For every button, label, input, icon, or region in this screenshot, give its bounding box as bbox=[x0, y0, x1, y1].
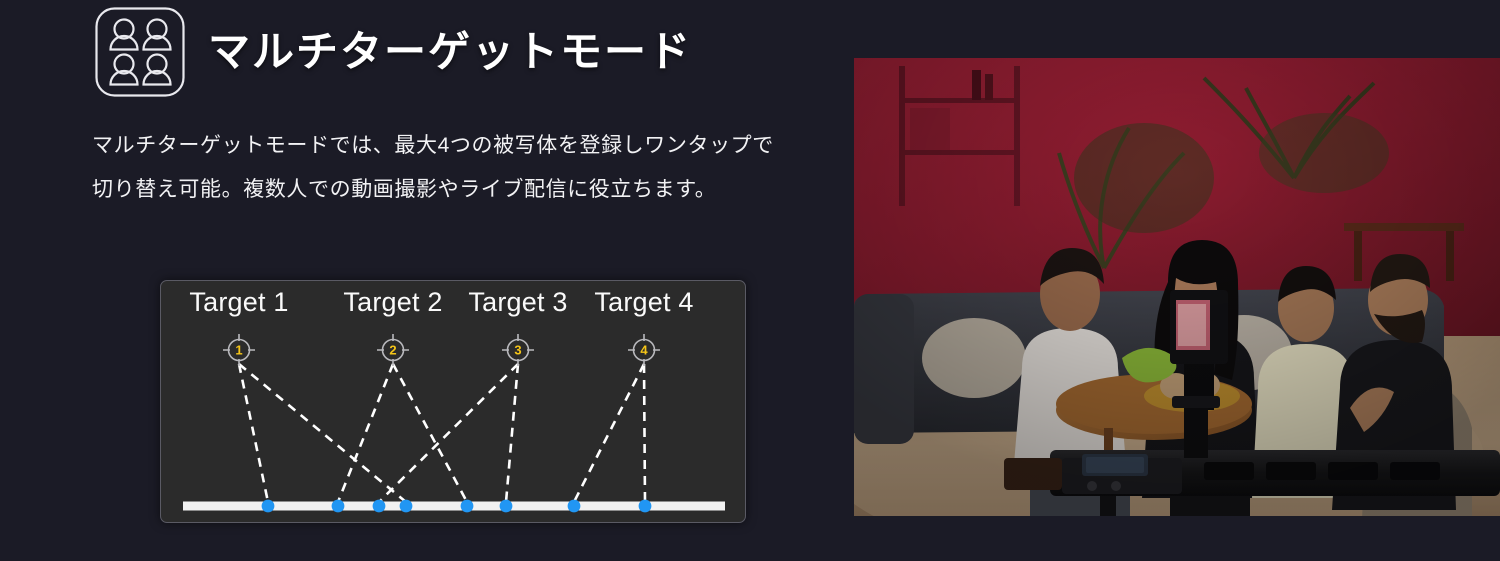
multi-target-diagram: 1234 Target 1Target 2Target 3Target 4 bbox=[160, 280, 746, 523]
target-marker-1[interactable]: 1 bbox=[223, 334, 255, 366]
target-label-2: Target 2 bbox=[343, 287, 442, 318]
target-marker-number: 1 bbox=[235, 343, 242, 358]
target-marker-number: 2 bbox=[389, 343, 396, 358]
target-connection-line bbox=[574, 364, 644, 502]
target-marker-4[interactable]: 4 bbox=[628, 334, 660, 366]
target-connection-line bbox=[338, 364, 393, 502]
rail-position-dot[interactable] bbox=[262, 500, 275, 513]
rail-position-dot[interactable] bbox=[373, 500, 386, 513]
multi-person-grid-icon bbox=[92, 4, 188, 100]
rail-position-dot[interactable] bbox=[332, 500, 345, 513]
target-connection-line bbox=[379, 364, 518, 502]
feature-description: マルチターゲットモードでは、最大4つの被写体を登録しワンタップで切り替え可能。複… bbox=[92, 124, 782, 212]
rail-position-dot[interactable] bbox=[400, 500, 413, 513]
target-label-4: Target 4 bbox=[594, 287, 693, 318]
page-title: マルチターゲットモード bbox=[208, 31, 692, 73]
living-room-four-people-camera-slider-photo bbox=[854, 58, 1500, 516]
rail-position-dot[interactable] bbox=[461, 500, 474, 513]
rail-position-dot[interactable] bbox=[639, 500, 652, 513]
target-marker-3[interactable]: 3 bbox=[502, 334, 534, 366]
target-label-1: Target 1 bbox=[189, 287, 288, 318]
feature-header: マルチターゲットモード bbox=[92, 4, 692, 100]
target-connection-line bbox=[644, 364, 645, 502]
target-marker-2[interactable]: 2 bbox=[377, 334, 409, 366]
target-connection-line bbox=[506, 364, 518, 502]
left-text-column: マルチターゲットモード マルチターゲットモードでは、最大4つの被写体を登録しワン… bbox=[0, 0, 840, 561]
feature-section: マルチターゲットモード マルチターゲットモードでは、最大4つの被写体を登録しワン… bbox=[0, 0, 1500, 561]
rail-position-dot[interactable] bbox=[568, 500, 581, 513]
target-connection-line bbox=[393, 364, 467, 502]
target-marker-number: 3 bbox=[514, 343, 521, 358]
target-marker-number: 4 bbox=[640, 343, 648, 358]
rail-position-dot[interactable] bbox=[500, 500, 513, 513]
target-label-3: Target 3 bbox=[468, 287, 567, 318]
